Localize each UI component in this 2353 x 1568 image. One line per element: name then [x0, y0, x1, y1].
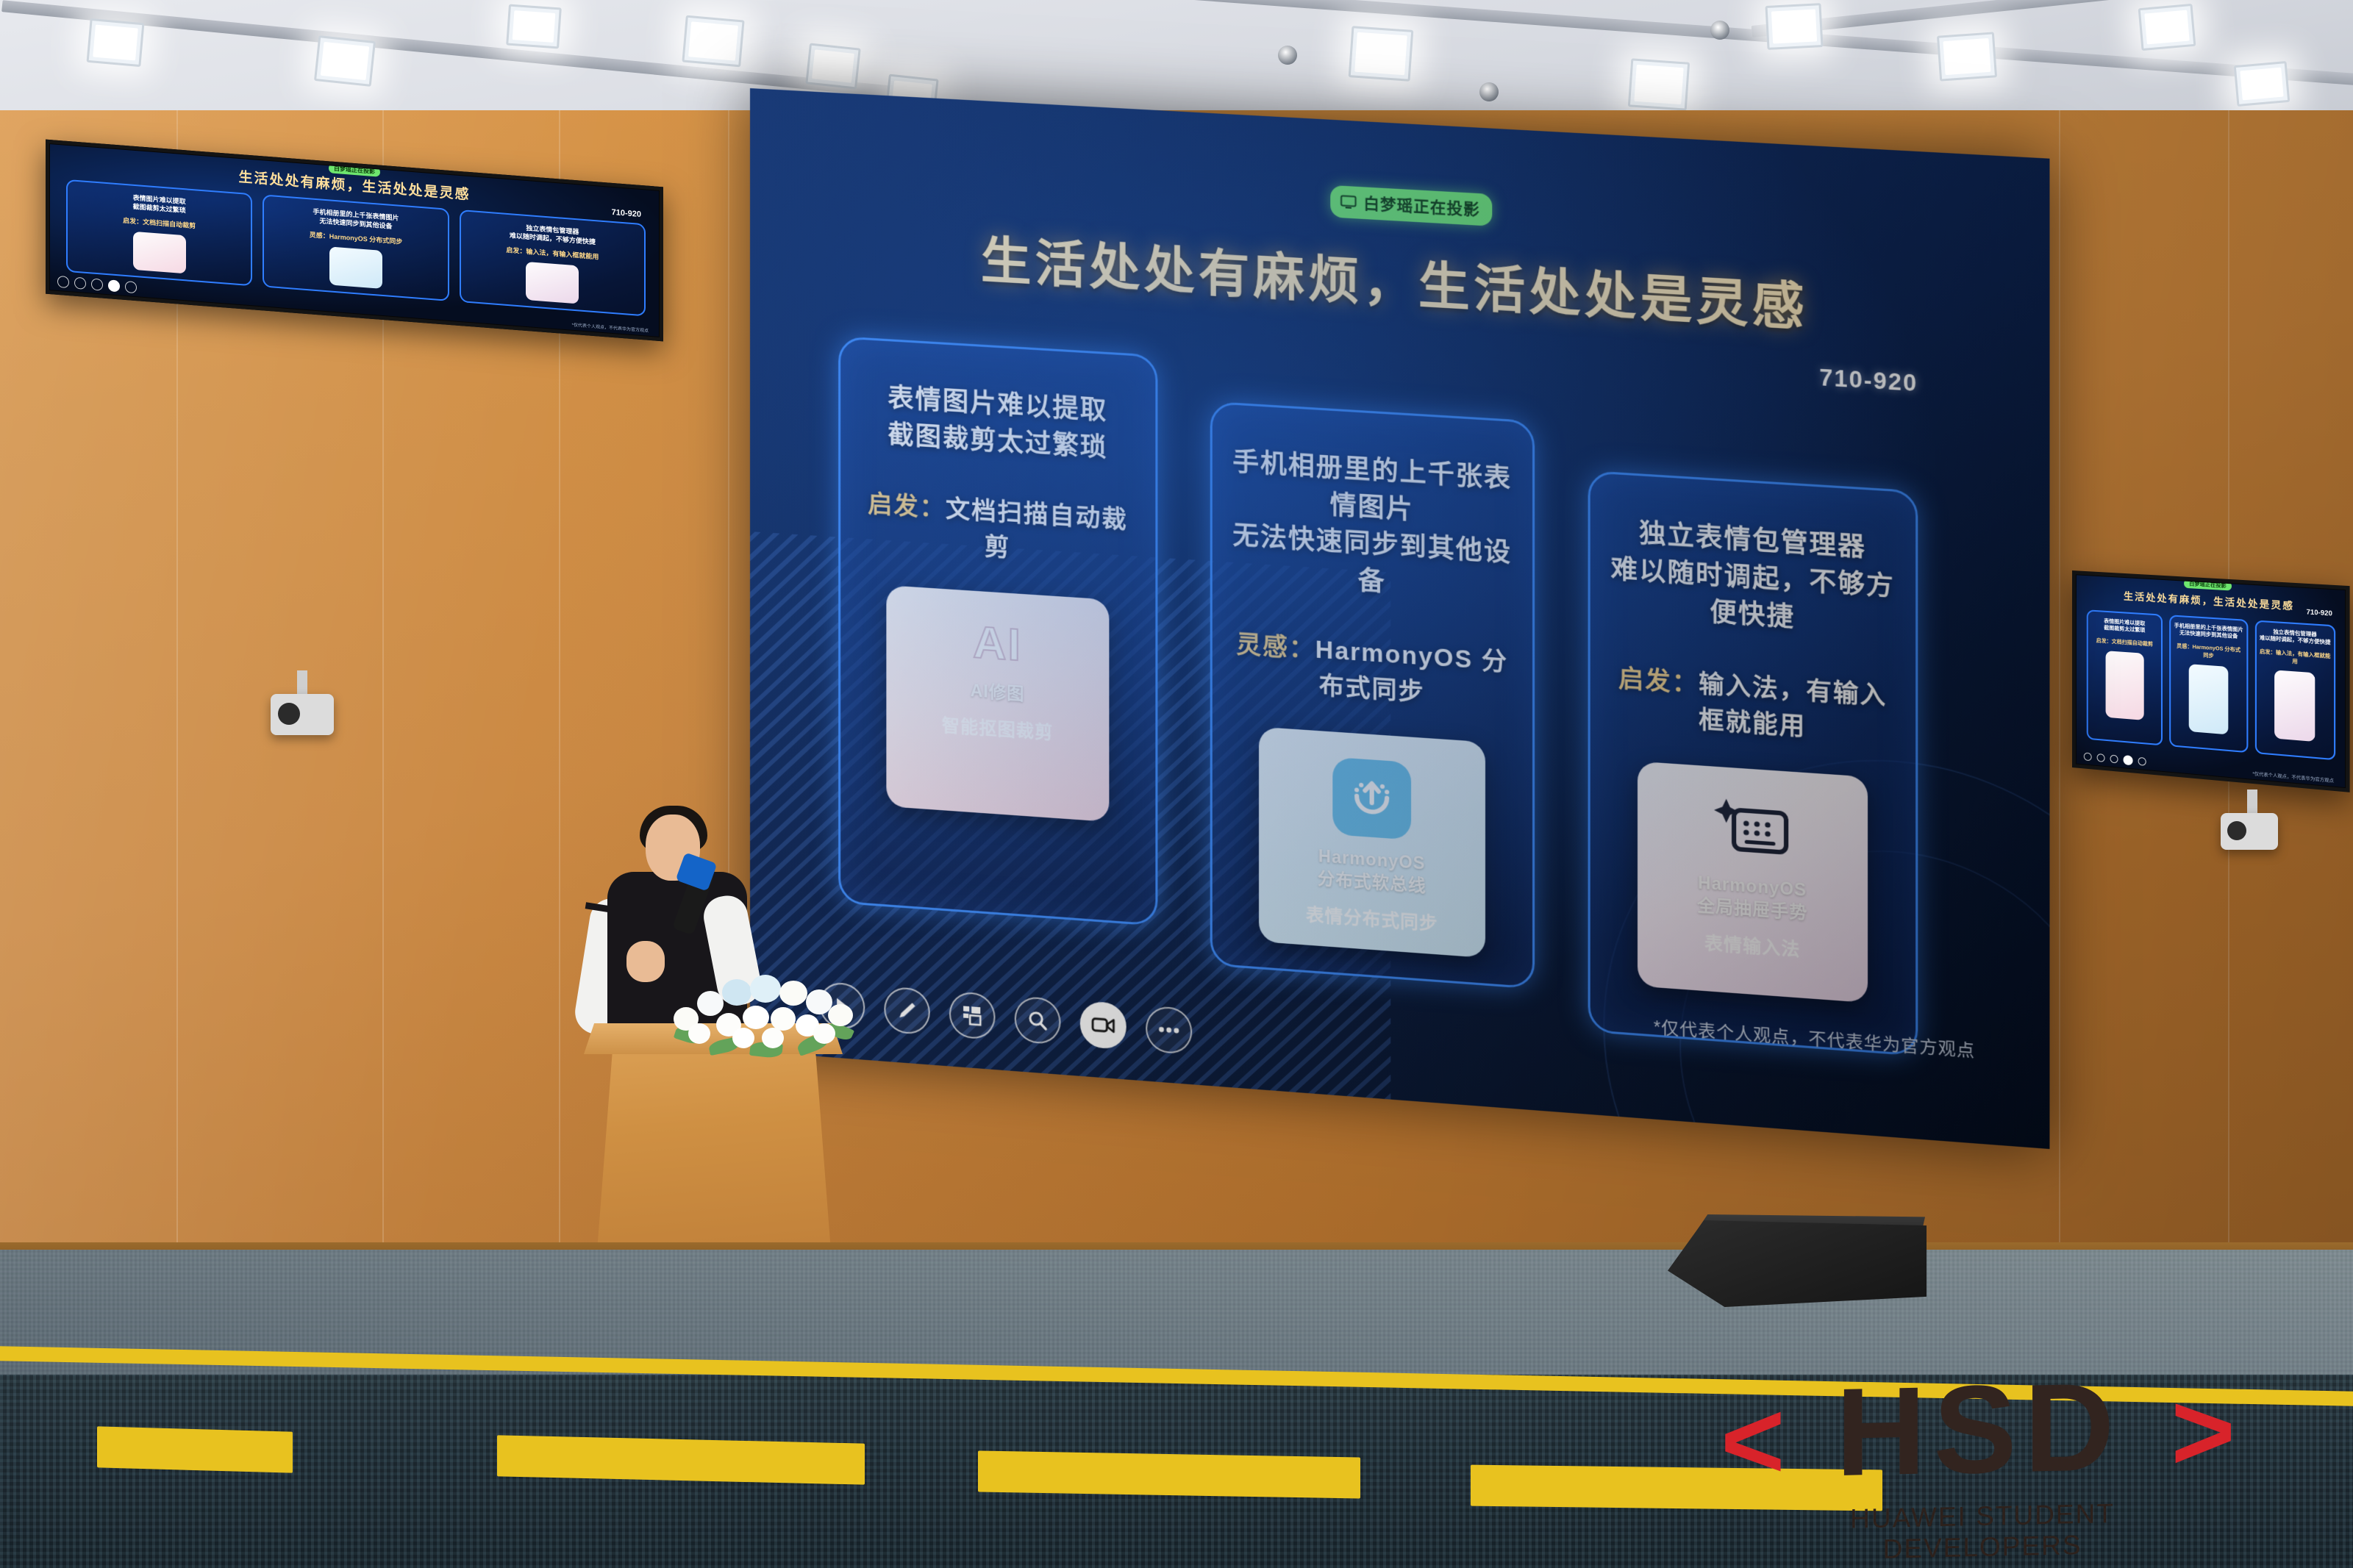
ceiling-spotlight [1479, 82, 1499, 101]
mini-insight: 启发：文档扫描自动裁剪 [123, 215, 196, 231]
mini-search-icon[interactable] [2110, 754, 2118, 763]
ai-sparkle-icon: AI [973, 616, 1022, 672]
mini-cursor-icon[interactable] [57, 276, 69, 288]
hsd-logo: < > HSD HUAWEI STUDENT DEVELOPERS [1721, 1355, 2235, 1550]
card1-thumbnail: AI AI修图 智能抠图裁剪 [886, 585, 1109, 822]
projection-badge-label: 白梦瑶正在投影 [1363, 191, 1479, 220]
keyboard-sparkle-icon [1710, 792, 1795, 867]
mini-insight: 启发：输入法，有输入框就能用 [506, 245, 599, 262]
carpet-yellow-block [97, 1426, 293, 1472]
card3-thumb-caption1: HarmonyOS 全局抽屉手势 [1697, 872, 1807, 925]
flower-bouquet [668, 975, 856, 1062]
card3-insight: 启发：输入法，有输入框就能用 [1609, 657, 1897, 748]
bracket-left-icon: < [1721, 1384, 1785, 1496]
card3-insight-label: 启发： [1618, 664, 1699, 697]
mini-pen-icon[interactable] [74, 277, 86, 290]
mini-insight: 启发：文档扫描自动裁剪 [2096, 637, 2153, 648]
card1-thumb-caption2: 智能抠图裁剪 [942, 711, 1053, 744]
mini-card: 表情图片难以提取 截图裁剪太过繁琐 启发：文档扫描自动裁剪 [66, 179, 252, 286]
video-camera-icon[interactable] [1080, 1000, 1126, 1050]
stage-light [1349, 26, 1414, 82]
card2-thumb-caption2: 表情分布式同步 [1306, 899, 1438, 934]
mini-insight: 启发：输入法，有输入框就能用 [2260, 648, 2331, 667]
stage-light [2138, 4, 2196, 51]
hsd-logo-subtitle: HUAWEI STUDENT DEVELOPERS [1791, 1497, 2174, 1567]
stage-light [805, 43, 860, 89]
mini-pen-icon[interactable] [2097, 753, 2105, 762]
card1-insight-label: 启发： [868, 490, 946, 522]
mini-card: 手机相册里的上千张表情图片 无法快速同步到其他设备 灵感：HarmonyOS 分… [263, 194, 449, 301]
ceiling-track [1752, 0, 2353, 37]
stage-light [2234, 61, 2290, 107]
right-preview-monitor[interactable]: 白梦瑶正在投影 生活处处有麻烦，生活处处是灵感 710-920 表情图片难以提取… [2072, 570, 2350, 792]
mini-toolbar[interactable] [57, 276, 137, 293]
mini-problem-2: 难以随时调起，不够方便快捷 [2260, 635, 2331, 647]
mini-card: 独立表情包管理器 难以随时调起，不够方便快捷 启发：输入法，有输入框就能用 [460, 210, 646, 316]
camera-lens-icon [2227, 821, 2246, 840]
pages-icon[interactable] [949, 991, 996, 1040]
projection-status-badge: 白梦瑶正在投影 [1330, 185, 1492, 226]
mini-video-camera-icon[interactable] [2124, 755, 2133, 765]
card3-insight-value: 输入法，有输入框就能用 [1699, 670, 1887, 741]
floor-monitor-speaker [1668, 1220, 1927, 1307]
card2-insight: 灵感：HarmonyOS 分布式同步 [1230, 623, 1514, 714]
main-presentation-screen[interactable]: 白梦瑶正在投影 生活处处有麻烦，生活处处是灵感 710-920 表情图片难以提取… [750, 88, 2049, 1149]
mini-page-number: 710-920 [2307, 608, 2332, 617]
mini-card: 手机相册里的上千张表情图片 无法快速同步到其他设备 灵感：HarmonyOS 分… [2169, 615, 2248, 753]
mini-thumb [2105, 651, 2143, 720]
presenter-hand [626, 941, 665, 982]
more-icon[interactable] [1146, 1006, 1192, 1055]
slide-page-number: 710-920 [1819, 365, 1918, 398]
slide-card-1: 表情图片难以提取 截图裁剪太过繁琐 启发：文档扫描自动裁剪 AI AI修图 智能… [838, 336, 1157, 926]
card1-thumb-caption1: AI修图 [971, 680, 1025, 706]
carpet-yellow-block [497, 1435, 865, 1484]
slide-card-3: 独立表情包管理器 难以随时调起，不够方便快捷 启发：输入法，有输入框就能用 [1588, 470, 1918, 1056]
harmonyos-smile-arrow-icon [1332, 757, 1411, 840]
stage-light [506, 4, 562, 49]
carpet-yellow-block [978, 1450, 1360, 1498]
slide-cards-container: 表情图片难以提取 截图裁剪太过繁琐 启发：文档扫描自动裁剪 AI AI修图 智能… [838, 336, 1972, 1007]
card2-insight-label: 灵感： [1236, 630, 1315, 662]
wooden-podium [597, 1038, 831, 1251]
stage-light [1628, 58, 1690, 110]
ceiling-spotlight [1278, 46, 1297, 65]
mini-thumb [133, 232, 186, 273]
monitor-icon [1340, 194, 1357, 210]
mini-cursor-icon[interactable] [2084, 752, 2092, 761]
auditorium-scene: 白梦瑶正在投影 生活处处有麻烦，生活处处是灵感 710-920 表情图片难以提取… [0, 0, 2353, 1568]
mini-toolbar[interactable] [2084, 751, 2146, 767]
stage-light [682, 15, 744, 68]
mini-page-number: 710-920 [612, 208, 641, 219]
card1-insight-value: 文档扫描自动裁剪 [946, 495, 1128, 562]
stage-light [1765, 3, 1823, 50]
card1-insight: 启发：文档扫描自动裁剪 [858, 484, 1138, 573]
wall-camera-left [271, 694, 334, 735]
mini-thumb [2274, 670, 2315, 742]
stage-light [87, 18, 145, 67]
mini-thumb [329, 247, 382, 289]
wall-camera-right [2221, 813, 2278, 850]
mini-card: 表情图片难以提取 截图裁剪太过繁琐 启发：文档扫描自动裁剪 [2087, 609, 2163, 745]
pen-icon[interactable] [884, 986, 929, 1035]
mini-more-icon[interactable] [2138, 757, 2146, 766]
stage-light [314, 35, 376, 87]
mini-slide: 白梦瑶正在投影 生活处处有麻烦，生活处处是灵感 710-920 表情图片难以提取… [2077, 575, 2345, 787]
mini-card: 独立表情包管理器 难以随时调起，不够方便快捷 启发：输入法，有输入框就能用 [2254, 620, 2335, 761]
bracket-right-icon: > [2171, 1375, 2235, 1487]
mini-insight: 灵感：HarmonyOS 分布式同步 [2174, 642, 2243, 662]
camera-lens-icon [278, 703, 300, 725]
card2-thumb-caption1: HarmonyOS 分布式软总线 [1318, 845, 1427, 898]
stage-light [1937, 32, 1997, 81]
mini-video-camera-icon[interactable] [108, 279, 120, 292]
mini-search-icon[interactable] [91, 278, 103, 290]
card3-thumbnail: HarmonyOS 全局抽屉手势 表情输入法 [1638, 762, 1868, 1003]
card3-thumb-caption2: 表情输入法 [1704, 928, 1800, 961]
mini-thumb [526, 262, 579, 304]
podium-and-presenter [559, 801, 838, 1257]
hsd-logo-text: HSD [1791, 1364, 2166, 1497]
mini-thumb [2189, 664, 2229, 734]
mini-insight: 灵感：HarmonyOS 分布式同步 [310, 230, 403, 247]
card2-insight-value: HarmonyOS 分布式同步 [1315, 635, 1508, 706]
search-icon[interactable] [1015, 995, 1061, 1045]
slide-title: 生活处处有麻烦，生活处处是灵感 [750, 206, 2049, 354]
slide-card-2: 手机相册里的上千张表情图片 无法快速同步到其他设备 灵感：HarmonyOS 分… [1210, 401, 1535, 989]
ceiling-spotlight [1710, 21, 1729, 40]
card2-thumbnail: HarmonyOS 分布式软总线 表情分布式同步 [1259, 726, 1485, 958]
mini-more-icon[interactable] [125, 281, 137, 293]
